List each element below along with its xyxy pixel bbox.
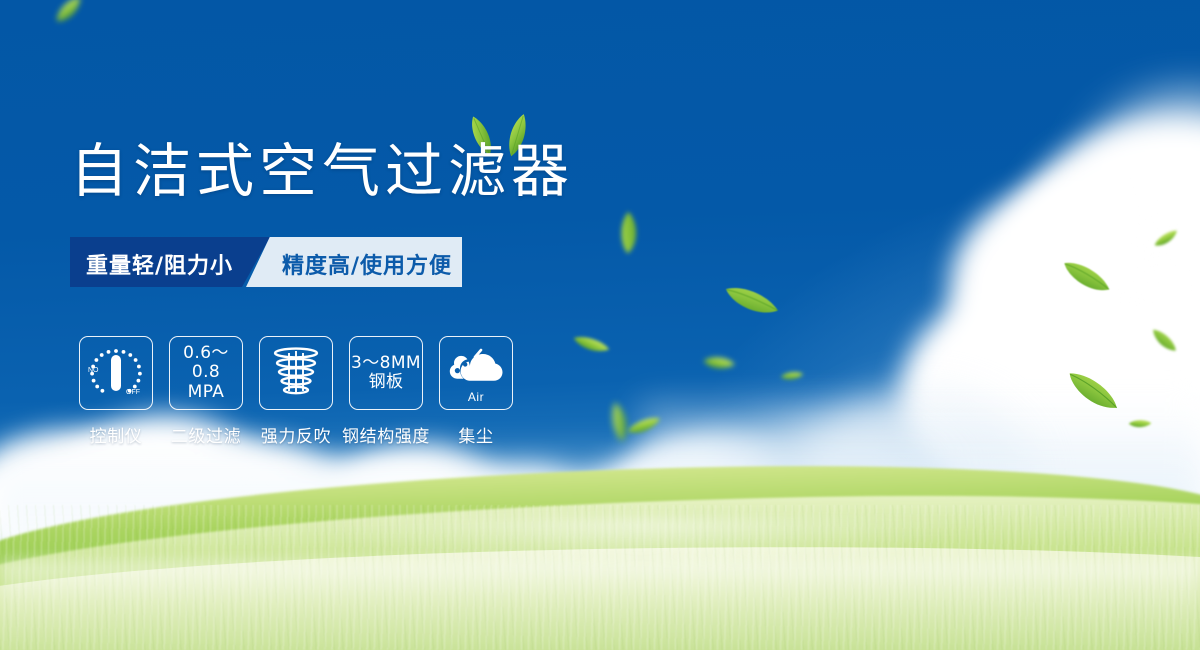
- subtitle-left-text: 重量轻/阻力小: [86, 248, 233, 280]
- feature-label: 集尘: [458, 422, 493, 447]
- pressure-unit: MPA: [170, 383, 242, 402]
- feature-label: 钢结构强度: [342, 422, 430, 447]
- svg-text:OFF: OFF: [126, 389, 140, 396]
- svg-text:NO: NO: [88, 367, 99, 374]
- feature-item-pulse-blowback[interactable]: 强力反吹: [258, 336, 334, 447]
- feature-label: 二级过滤: [171, 422, 241, 447]
- subtitle-bar: 重量轻/阻力小 精度高/使用方便: [70, 237, 462, 287]
- pressure-range: 0.6～0.8: [170, 344, 242, 382]
- page-title: 自洁式空气过滤器: [70, 142, 574, 200]
- feature-item-dust-collection[interactable]: Air 集尘: [438, 336, 514, 447]
- feature-label: 控制仪: [90, 422, 143, 447]
- product-banner: 自洁式空气过滤器 重量轻/阻力小 精度高/使用方便: [0, 0, 1200, 650]
- subtitle-left-panel: 重量轻/阻力小: [70, 237, 270, 287]
- feature-item-two-stage-filter[interactable]: 0.6～0.8 MPA 二级过滤: [168, 336, 244, 447]
- steel-plate-icon: 3～8MM 钢板: [351, 354, 421, 392]
- feature-label: 强力反吹: [261, 422, 331, 447]
- subtitle-right-text: 精度高/使用方便: [282, 248, 452, 280]
- filter-cartridge-icon: [270, 345, 322, 401]
- steel-thickness: 3～8MM: [351, 354, 421, 373]
- feature-icon-box: Air: [439, 336, 513, 410]
- dial-gauge-icon: NO OFF: [86, 344, 146, 402]
- feature-icon-box: 0.6～0.8 MPA: [169, 336, 243, 410]
- subtitle-right-panel: 精度高/使用方便: [246, 237, 462, 287]
- feature-icon-box: NO OFF: [79, 336, 153, 410]
- pressure-value-icon: 0.6～0.8 MPA: [170, 344, 242, 401]
- air-caption: Air: [440, 390, 512, 404]
- cloud-air-icon: [448, 346, 504, 392]
- feature-list: NO OFF 控制仪 0.6～0.8 MPA 二级过滤: [78, 336, 514, 447]
- feature-item-control-meter[interactable]: NO OFF 控制仪: [78, 336, 154, 447]
- feature-item-steel-strength[interactable]: 3～8MM 钢板 钢结构强度: [348, 336, 424, 447]
- feature-icon-box: [259, 336, 333, 410]
- steel-material: 钢板: [351, 373, 421, 392]
- leaf-icon: [779, 369, 804, 382]
- feature-icon-box: 3～8MM 钢板: [349, 336, 423, 410]
